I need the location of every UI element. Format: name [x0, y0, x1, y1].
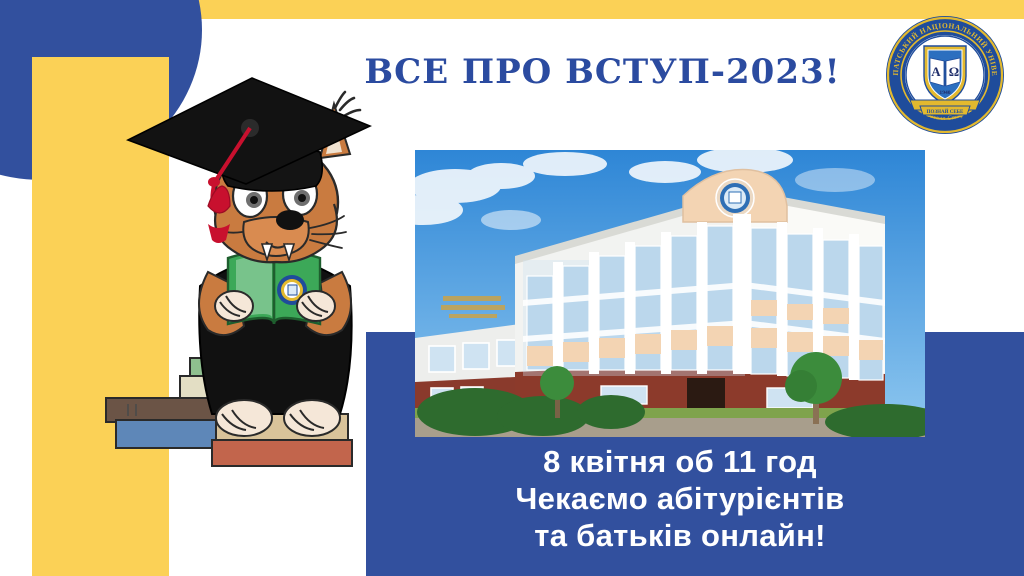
seal-shield-alpha: А: [931, 64, 941, 79]
facade-sign: [441, 296, 505, 318]
seal-year: 1940: [939, 90, 950, 96]
university-seal-icon: ПРИКАРПАТСЬКИЙ НАЦІОНАЛЬНИЙ УНІВЕРСИТЕТ …: [884, 14, 1006, 136]
page-title: ВСЕ ПРО ВСТУП-2023!: [330, 52, 875, 92]
lynx-mascot-illustration: [104, 62, 394, 468]
seal-ribbon-text: ПОЗНАЙ СЕБЕ: [927, 109, 964, 115]
caption-line-1: 8 квітня об 11 год: [430, 443, 930, 480]
caption-line-3: та батьків онлайн!: [430, 517, 930, 554]
event-caption: 8 квітня об 11 год Чекаємо абітурієнтів …: [430, 443, 930, 554]
university-building-photo: [415, 150, 925, 437]
caption-line-2: Чекаємо абітурієнтів: [430, 480, 930, 517]
seal-shield-omega: Ω: [949, 64, 959, 79]
poster-canvas: ВСЕ ПРО ВСТУП-2023! ПРИКАРПАТСЬКИЙ НАЦІО…: [0, 0, 1024, 576]
